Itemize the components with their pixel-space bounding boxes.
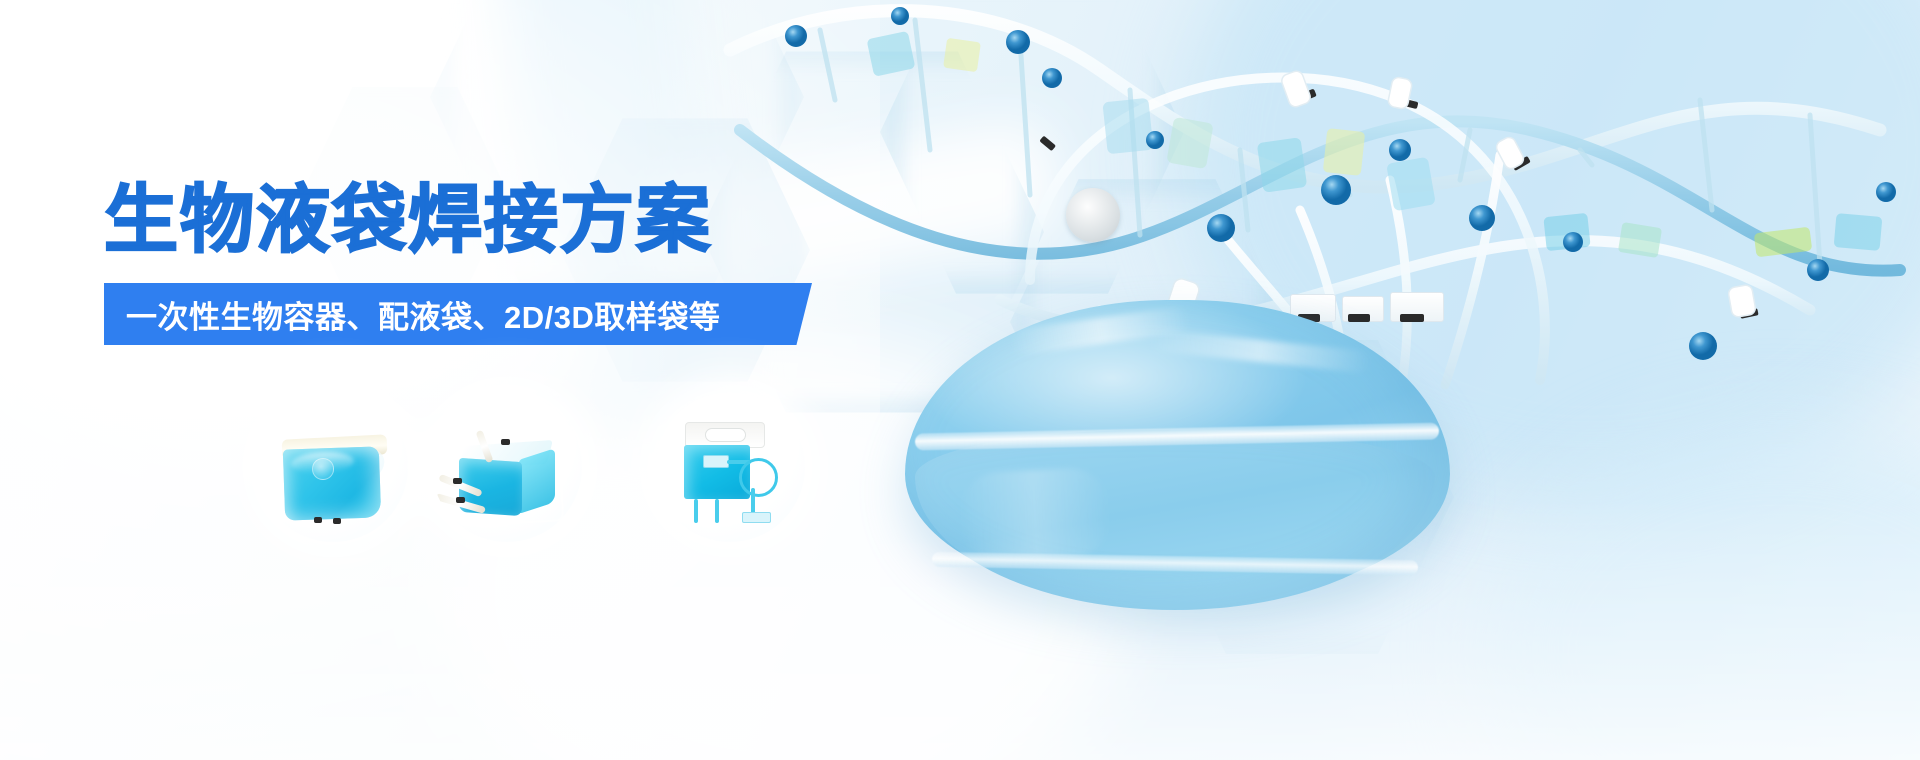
page-title: 生物液袋焊接方案 <box>104 178 712 262</box>
cube-bag-clamp-1 <box>453 478 462 484</box>
sampling-bag-tube-loop <box>739 458 778 497</box>
sampling-bag-outlet-1 <box>694 499 698 523</box>
port-clamp-2 <box>1348 314 1370 322</box>
product-circle-sampling-bag[interactable] <box>655 392 805 542</box>
product-circle-pillow-bag[interactable] <box>258 392 408 542</box>
sampling-bag-hang-hole <box>705 428 746 442</box>
port-clamp-3 <box>1400 314 1424 322</box>
cube-bag-clamp-2 <box>456 497 465 503</box>
cube-bag-film-outline <box>454 436 564 526</box>
pillow-bag-tube-clamp-1 <box>314 517 322 523</box>
product-hero-banner: 生物液袋焊接方案 一次性生物容器、配液袋、2D/3D取样袋等 <box>0 0 1920 760</box>
pillow-bag-tube-clamp-2 <box>333 518 341 524</box>
pillow-bag-port <box>312 458 334 480</box>
bag-fold-highlight-3 <box>958 466 1113 564</box>
subtitle-text: 一次性生物容器、配液袋、2D/3D取样袋等 <box>126 283 720 345</box>
cube-bag-clamp-3 <box>501 439 510 445</box>
product-circle-cube-bag[interactable] <box>432 392 582 542</box>
pillow-liquid-bag-photo <box>258 392 408 542</box>
sterile-filter-disc-icon <box>1066 188 1120 242</box>
sampling-bag-port-clip <box>703 455 729 468</box>
sampling-bag-stem-2 <box>751 488 755 515</box>
sampling-bag-photo <box>655 392 805 542</box>
cube-3d-bag-photo <box>432 392 582 542</box>
sampling-bag-outlet-2 <box>715 499 719 523</box>
bag-port-manifold <box>1290 250 1490 330</box>
sampling-bag-connector <box>742 512 771 523</box>
